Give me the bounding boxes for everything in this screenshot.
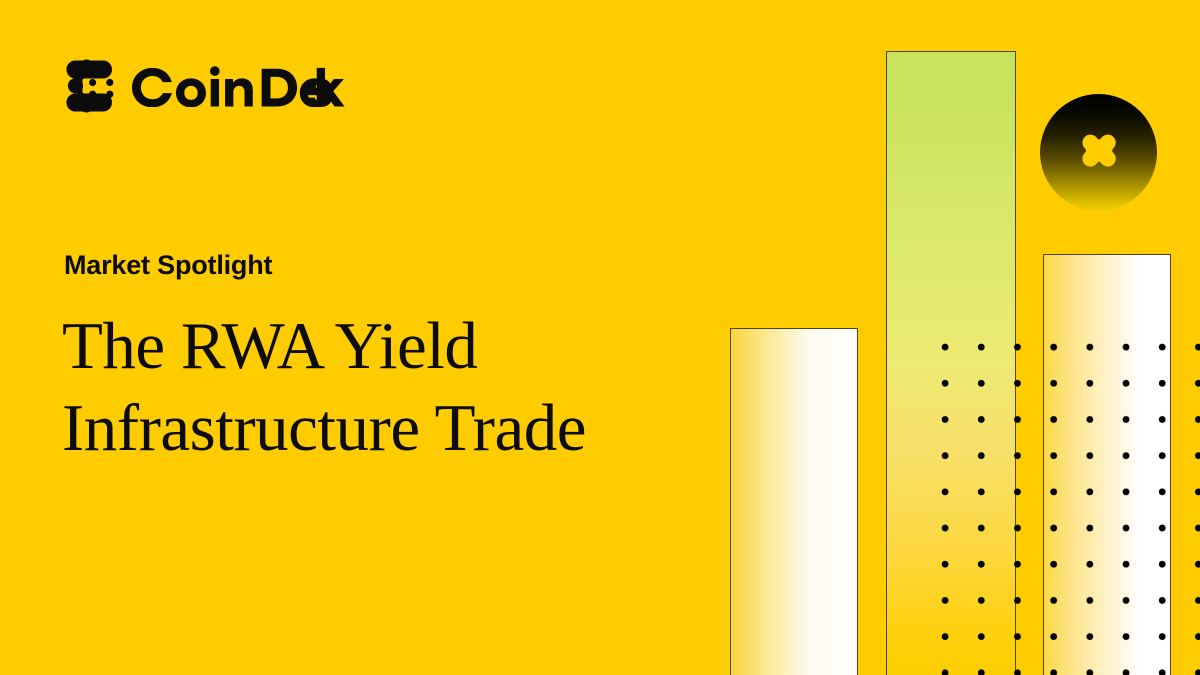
coindesk-dot-matrix-c-icon: [62, 58, 120, 114]
cross-cutout-icon: [1071, 125, 1127, 181]
chart-bar-center: [886, 51, 1016, 675]
headline-line-2: Infrastructure Trade: [62, 387, 742, 469]
dot-matrix-pattern: [913, 315, 1200, 675]
chart-bar-right: [1043, 254, 1171, 675]
coindesk-logo[interactable]: [62, 58, 345, 114]
page-title: The RWA Yield Infrastructure Trade: [62, 305, 742, 469]
chart-bar-left: [730, 328, 858, 675]
coindesk-wordmark: [130, 65, 345, 107]
headline-line-1: The RWA Yield: [62, 305, 742, 387]
promo-card: Market Spotlight The RWA Yield Infrastru…: [0, 0, 1200, 675]
eyebrow-label: Market Spotlight: [64, 250, 272, 281]
coindesk-cross-badge-icon: [1040, 94, 1157, 211]
